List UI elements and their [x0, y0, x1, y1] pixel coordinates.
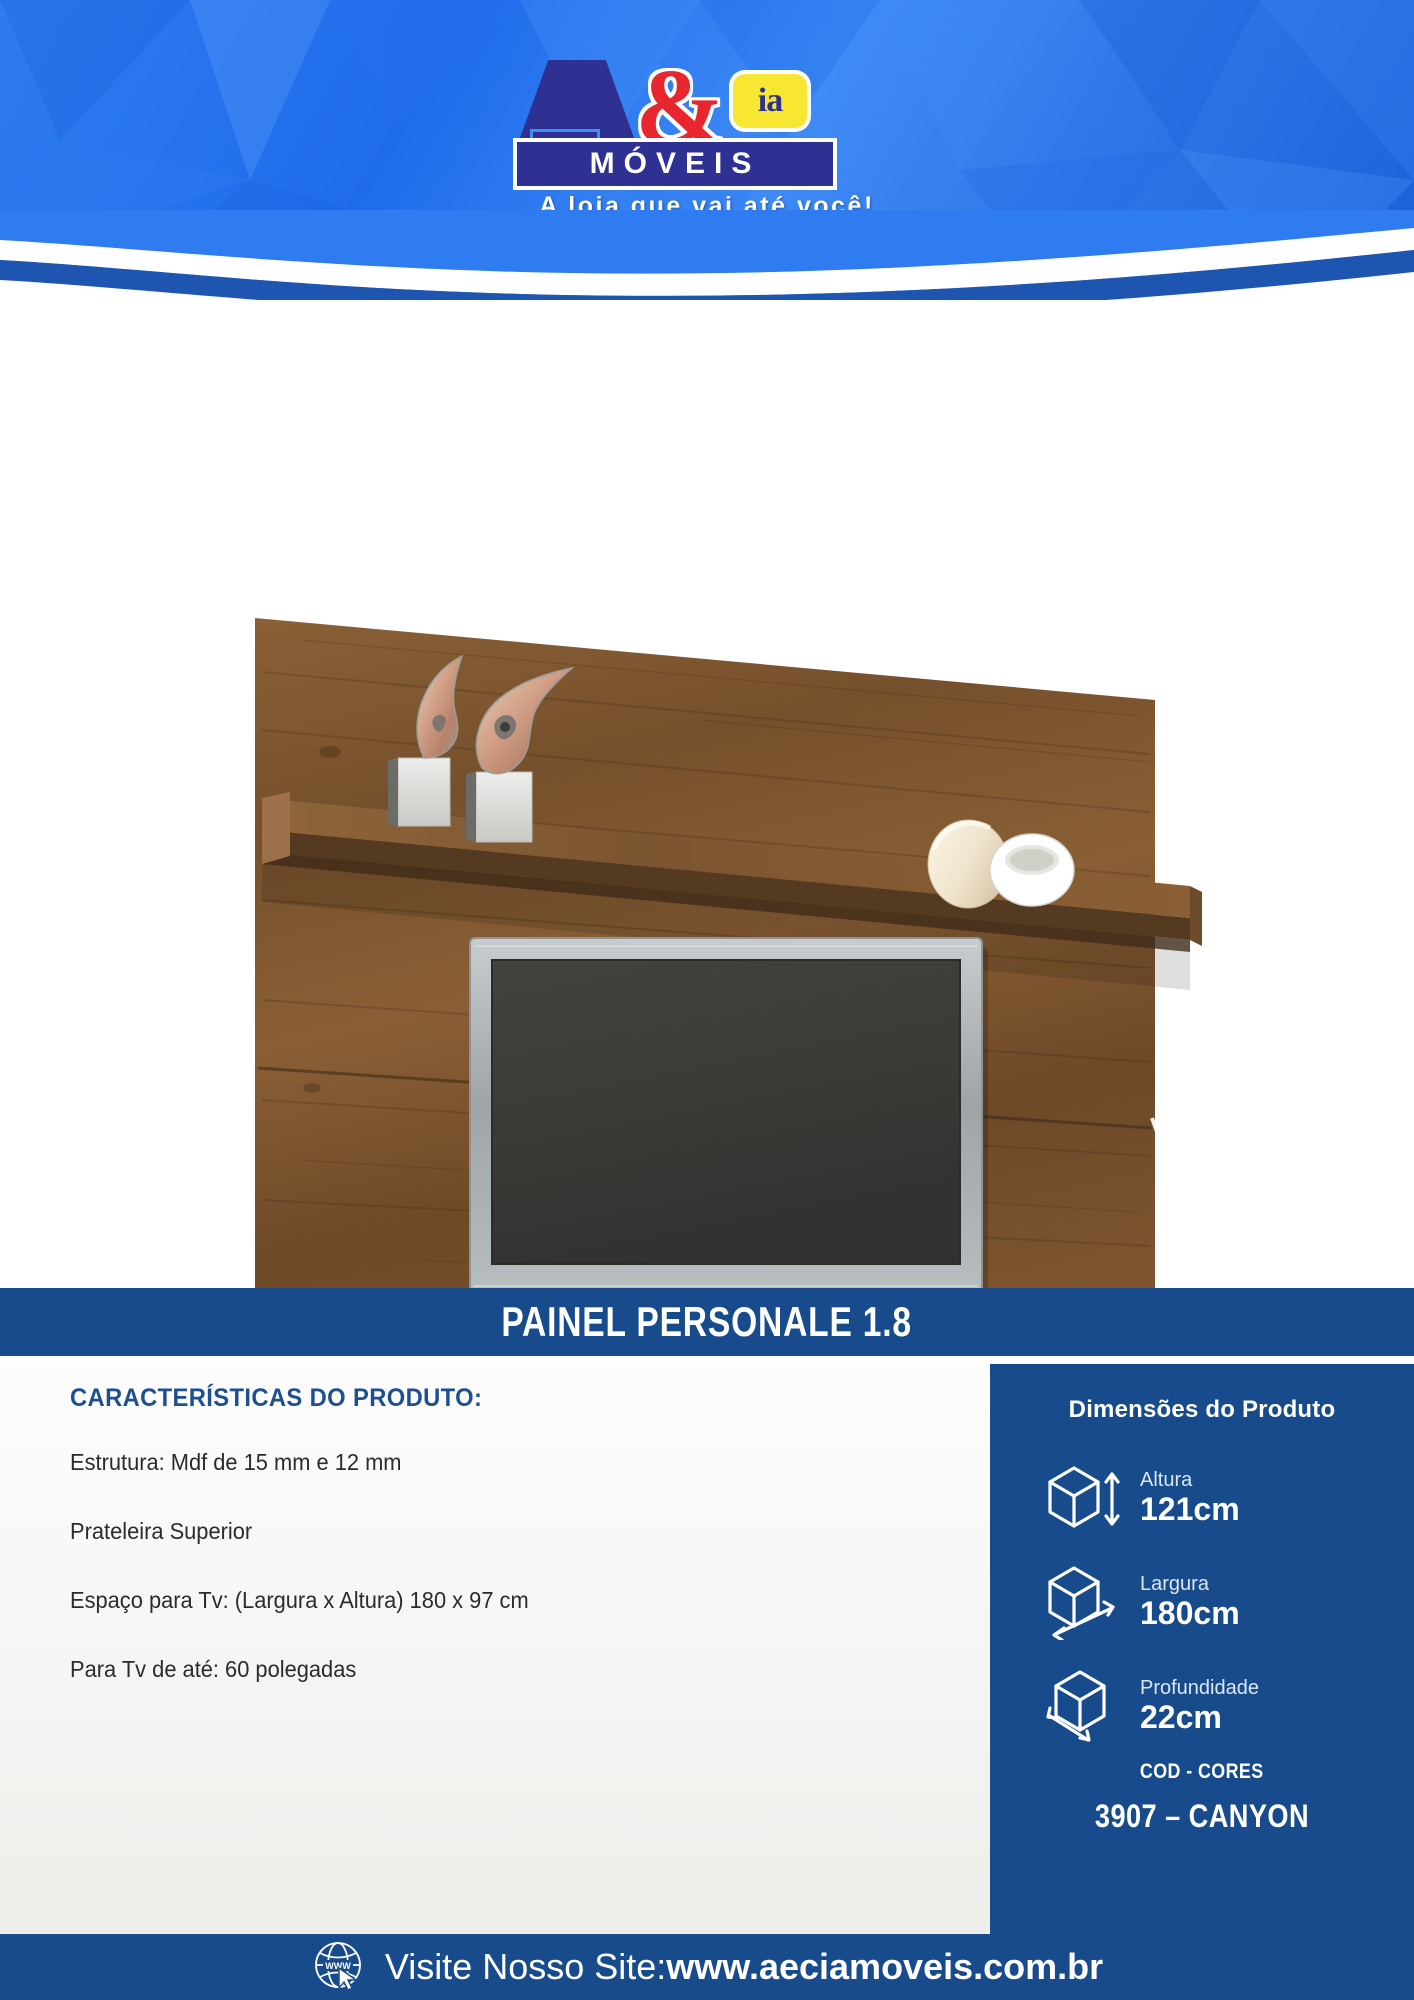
footer-url[interactable]: www.aeciamoveis.com.br: [666, 1946, 1103, 1988]
dimension-label: Profundidade: [1140, 1677, 1259, 1700]
page-title: PAINEL PERSONALE 1.8: [502, 1298, 913, 1346]
feature-item: Para Tv de até: 60 polegadas: [70, 1656, 878, 1683]
dimension-row-depth: Profundidade 22cm: [990, 1662, 1414, 1750]
footer-visit-text: Visite Nosso Site:: [385, 1946, 666, 1988]
dimension-row-height: Altura 121cm: [990, 1454, 1414, 1542]
cube-depth-icon: [1042, 1668, 1126, 1744]
dimension-value: 121cm: [1140, 1492, 1240, 1527]
header-wave-divider: [0, 210, 1414, 300]
dimension-text-height: Altura 121cm: [1140, 1469, 1240, 1527]
dimension-value: 180cm: [1140, 1596, 1240, 1631]
tv-set: SAMSUNG: [470, 938, 982, 1290]
dimension-text-width: Largura 180cm: [1140, 1573, 1240, 1631]
brand-logo: & ia MÓVEIS A loja que vai até você!: [0, 60, 1414, 221]
dimensions-panel: Dimensões do Produto Altura 121cm: [990, 1364, 1414, 1934]
dimensions-heading: Dimensões do Produto: [990, 1364, 1414, 1424]
dimension-label: Largura: [1140, 1573, 1240, 1596]
footer-content[interactable]: WWW Visite Nosso Site: www.aeciamoveis.c…: [311, 1938, 1103, 1996]
dimension-label: Altura: [1140, 1469, 1240, 1492]
product-title-bar: PAINEL PERSONALE 1.8: [0, 1288, 1414, 1356]
dimension-text-depth: Profundidade 22cm: [1140, 1677, 1259, 1735]
feature-item: Estrutura: Mdf de 15 mm e 12 mm: [70, 1449, 878, 1476]
globe-www-icon: WWW: [311, 1938, 369, 1996]
logo-cia-label: ia: [758, 82, 782, 120]
feature-item: Espaço para Tv: (Largura x Altura) 180 x…: [70, 1587, 878, 1614]
product-code-value: 3907 – CANYON: [1095, 1798, 1309, 1835]
features-block: CARACTERÍSTICAS DO PRODUTO: Estrutura: M…: [70, 1384, 920, 1725]
product-code-block: COD - CORES 3907 – CANYON: [990, 1760, 1414, 1835]
feature-item: Prateleira Superior: [70, 1518, 878, 1545]
cube-width-icon: [1042, 1564, 1126, 1640]
dimensions-list: Altura 121cm Largura 180cm: [990, 1454, 1414, 1750]
features-heading: CARACTERÍSTICAS DO PRODUTO:: [70, 1384, 878, 1413]
product-code-label: COD - CORES: [1140, 1760, 1264, 1784]
dimension-row-width: Largura 180cm: [990, 1558, 1414, 1646]
product-photo: SAMSUNG: [0, 300, 1414, 1290]
logo-moveis-bar: MÓVEIS: [517, 142, 833, 186]
logo-mark: & ia MÓVEIS: [497, 60, 917, 170]
logo-moveis-label: MÓVEIS: [590, 147, 761, 181]
logo-letter-a-crossbar: [533, 132, 597, 142]
page-header: & ia MÓVEIS A loja que vai até você!: [0, 0, 1414, 300]
dimension-value: 22cm: [1140, 1700, 1259, 1735]
svg-text:WWW: WWW: [325, 1961, 351, 1971]
product-illustration: SAMSUNG: [0, 300, 1414, 1290]
logo-cia-badge: ia: [733, 74, 807, 128]
cube-height-icon: [1042, 1460, 1126, 1536]
site-footer: WWW Visite Nosso Site: www.aeciamoveis.c…: [0, 1934, 1414, 2000]
